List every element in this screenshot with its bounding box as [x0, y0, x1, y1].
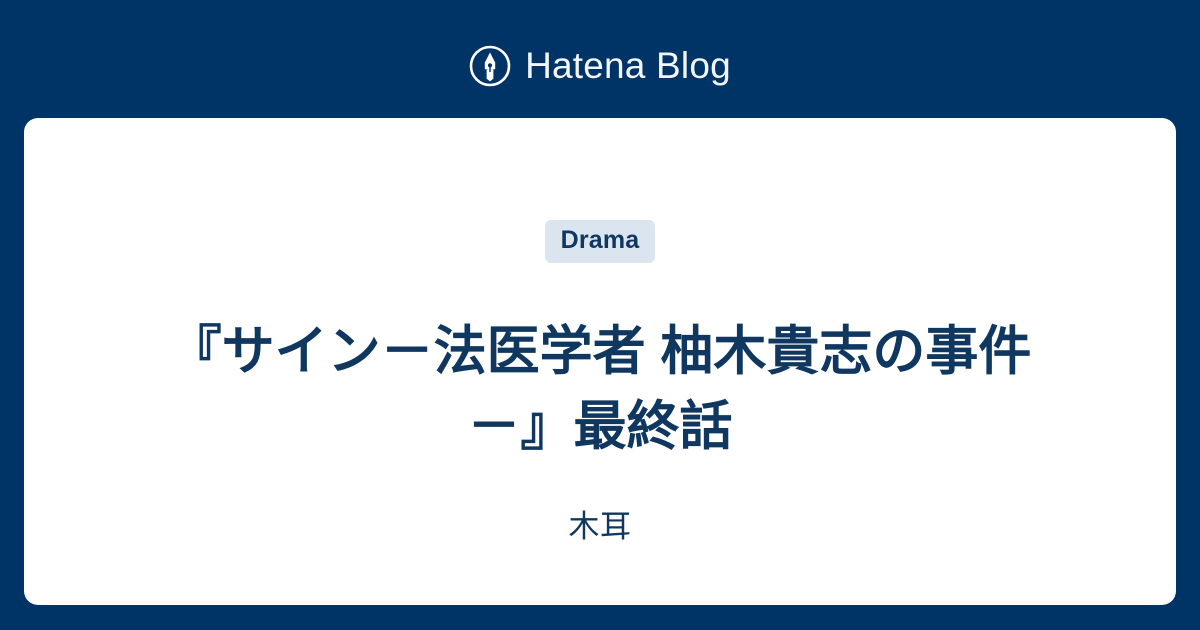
entry-title: 『サイン－法医学者 柚木貴志の事件－』最終話 [150, 314, 1050, 465]
hatena-blog-ogp-card: Hatena Blog Drama 『サイン－法医学者 柚木貴志の事件－』最終話… [0, 0, 1200, 630]
category-badge[interactable]: Drama [545, 220, 656, 263]
hatena-blog-brand: Hatena Blog [0, 38, 1200, 94]
category-badge-row: Drama [24, 220, 1176, 263]
hatena-blog-wordmark: Hatena Blog [525, 45, 731, 87]
hatena-pen-nib-icon [469, 45, 511, 87]
blog-name: 木耳 [100, 507, 1100, 547]
entry-card: Drama 『サイン－法医学者 柚木貴志の事件－』最終話 木耳 [24, 118, 1176, 605]
